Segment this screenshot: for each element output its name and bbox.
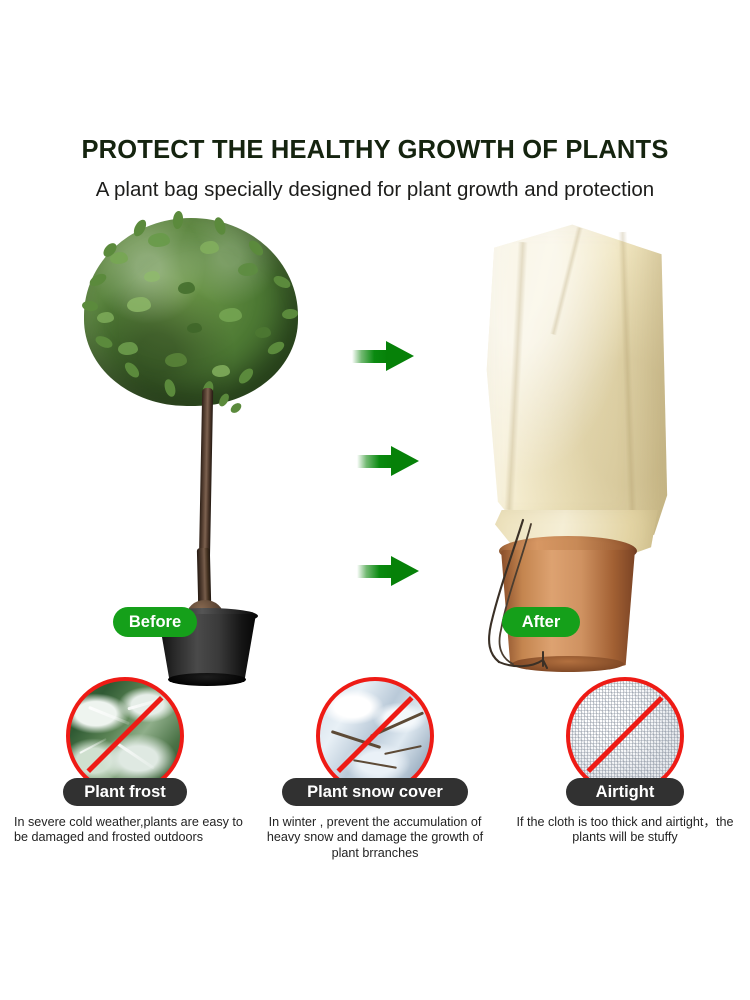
arrow-head — [391, 446, 419, 476]
arrow-head — [391, 556, 419, 586]
snowy-pine-texture — [319, 680, 431, 792]
airtight-fabric-photo — [569, 680, 681, 792]
woven-fabric-texture — [569, 680, 681, 792]
before-plant-illustration — [60, 218, 360, 668]
transition-arrow-3 — [357, 556, 419, 586]
after-plant-illustration — [455, 218, 715, 678]
arrow-head — [386, 341, 414, 371]
page-subtitle: A plant bag specially designed for plant… — [0, 178, 750, 202]
arrow-shaft — [357, 565, 393, 578]
frosted-leaves-texture — [69, 680, 181, 792]
transition-arrow-2 — [357, 446, 419, 476]
page-title: PROTECT THE HEALTHY GROWTH OF PLANTS — [0, 136, 750, 165]
after-badge: After — [502, 607, 580, 637]
feature-plant-snow-cover: Plant snow cover In winter , prevent the… — [250, 676, 500, 861]
feature-caption-plant-snow-cover: In winter , prevent the accumulation of … — [256, 815, 494, 861]
tree-canopy — [84, 218, 298, 406]
feature-caption-airtight: If the cloth is too thick and airtight，t… — [506, 815, 744, 846]
feature-airtight: Airtight If the cloth is too thick and a… — [500, 676, 750, 846]
plant-frost-photo — [69, 680, 181, 792]
fleece-plant-bag — [483, 218, 669, 548]
arrow-shaft — [352, 350, 388, 363]
feature-badge-plant-snow-cover: Plant snow cover — [282, 778, 468, 806]
feature-plant-frost: Plant frost In severe cold weather,plant… — [0, 676, 250, 846]
feature-badge-airtight: Airtight — [566, 778, 684, 806]
feature-caption-plant-frost: In severe cold weather,plants are easy t… — [4, 815, 246, 846]
plant-snow-cover-photo — [319, 680, 431, 792]
before-badge: Before — [113, 607, 197, 637]
feature-badge-plant-frost: Plant frost — [63, 778, 187, 806]
transition-arrow-1 — [352, 341, 414, 371]
drawstring-cord — [465, 518, 595, 678]
arrow-shaft — [357, 455, 393, 468]
